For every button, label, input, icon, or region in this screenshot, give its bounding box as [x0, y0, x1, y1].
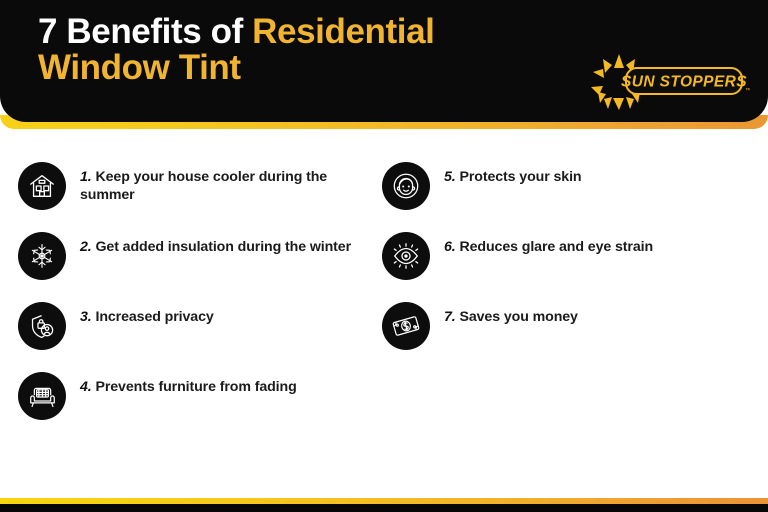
face-skin-icon [382, 162, 430, 210]
benefit-text: 1. Keep your house cooler during the sum… [80, 160, 378, 204]
list-item: 4. Prevents furniture from fading [18, 370, 388, 422]
svg-text:™: ™ [745, 87, 750, 94]
snowflake-icon [18, 232, 66, 280]
benefit-text: 3. Increased privacy [80, 300, 214, 326]
benefit-number: 6. [444, 239, 456, 255]
list-item: 7. Saves you money [382, 300, 752, 352]
list-item: 5. Protects your skin [382, 160, 752, 212]
header-banner: 7 Benefits of Residential Window Tint [0, 0, 768, 122]
sun-stoppers-logo-graphic: SUN STOPPERS ™ [582, 52, 750, 114]
benefit-label: Protects your skin [459, 169, 581, 185]
benefit-text: 4. Prevents furniture from fading [80, 370, 297, 396]
money-icon [382, 302, 430, 350]
benefit-text: 7. Saves you money [444, 300, 578, 326]
benefit-number: 2. [80, 239, 92, 255]
benefit-number: 5. [444, 169, 456, 185]
privacy-shield-icon [18, 302, 66, 350]
title-highlight-2: Window Tint [38, 50, 598, 86]
benefit-text: 5. Protects your skin [444, 160, 581, 186]
benefit-number: 1. [80, 169, 92, 185]
sun-stoppers-logo[interactable]: SUN STOPPERS ™ [582, 52, 750, 114]
benefit-label: Saves you money [459, 309, 577, 325]
eye-icon [382, 232, 430, 280]
house-icon [18, 162, 66, 210]
benefits-column-right: 5. Protects your skin 6. Reduces glare a… [382, 160, 752, 370]
armchair-icon [18, 372, 66, 420]
list-item: 2. Get added insulation during the winte… [18, 230, 388, 282]
benefit-label: Increased privacy [95, 309, 213, 325]
title-prefix: 7 Benefits of [38, 12, 252, 51]
benefit-number: 3. [80, 309, 92, 325]
benefits-column-left: 1. Keep your house cooler during the sum… [18, 160, 388, 440]
benefit-label: Reduces glare and eye strain [459, 239, 653, 255]
benefit-label: Keep your house cooler during the summer [80, 169, 327, 203]
benefits-list: 1. Keep your house cooler during the sum… [0, 160, 768, 430]
list-item: 3. Increased privacy [18, 300, 388, 352]
benefit-number: 4. [80, 379, 92, 395]
benefit-text: 6. Reduces glare and eye strain [444, 230, 653, 256]
list-item: 6. Reduces glare and eye strain [382, 230, 752, 282]
benefit-label: Prevents furniture from fading [95, 379, 296, 395]
svg-text:SUN STOPPERS: SUN STOPPERS [621, 74, 747, 91]
list-item: 1. Keep your house cooler during the sum… [18, 160, 388, 212]
page-title: 7 Benefits of Residential Window Tint [38, 14, 598, 87]
title-highlight-1: Residential [252, 12, 434, 51]
footer-black-strip [0, 504, 768, 512]
benefit-text: 2. Get added insulation during the winte… [80, 230, 351, 256]
benefit-number: 7. [444, 309, 456, 325]
benefit-label: Get added insulation during the winter [95, 239, 351, 255]
